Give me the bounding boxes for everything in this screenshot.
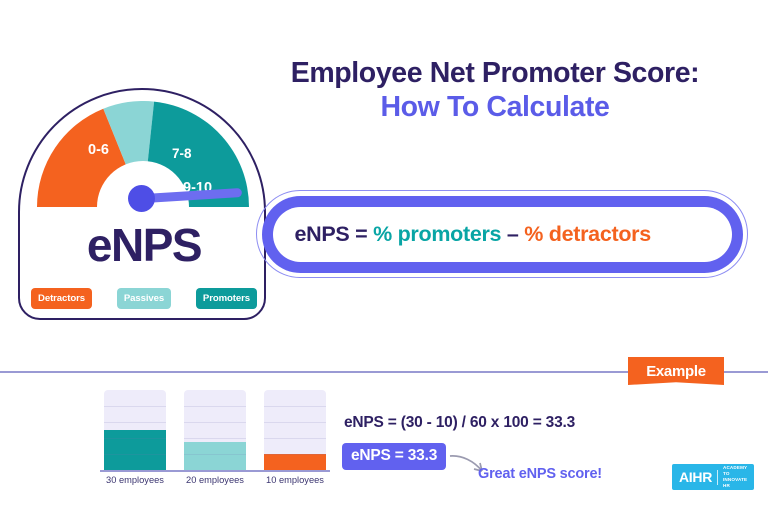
- gauge-center-label: eNPS: [20, 218, 268, 272]
- logo-tagline-line-2: INNOVATE HR: [723, 477, 747, 488]
- bar-chart-labels: 30 employees 20 employees 10 employees: [95, 475, 335, 485]
- example-comment: Great eNPS score!: [478, 466, 602, 482]
- formula-part-minus: –: [507, 222, 519, 246]
- bar-column-passives: [184, 390, 246, 470]
- bar-gridlines: [104, 390, 166, 470]
- bar-track: [264, 390, 326, 470]
- bar-chart-bars: [104, 390, 326, 470]
- formula-callout: eNPS = % promoters – % detractors: [256, 190, 748, 278]
- page-title-line-2: How To Calculate: [250, 91, 740, 125]
- bar-track: [184, 390, 246, 470]
- formula-callout-inner: eNPS = % promoters – % detractors: [273, 207, 732, 262]
- page-title-line-1: Employee Net Promoter Score:: [250, 57, 740, 91]
- logo-tagline: ACADEMY TO INNOVATE HR: [723, 465, 754, 490]
- enps-gauge-card: 0-6 7-8 9-10 eNPS Detractors Passives Pr…: [18, 88, 266, 320]
- bar-label-passives: 20 employees: [175, 475, 255, 485]
- bar-gridlines: [264, 390, 326, 470]
- logo-divider: [717, 470, 718, 485]
- bar-label-promoters: 30 employees: [95, 475, 175, 485]
- page-title: Employee Net Promoter Score: How To Calc…: [250, 57, 740, 124]
- formula-callout-border: eNPS = % promoters – % detractors: [262, 196, 743, 273]
- bar-chart-baseline: [100, 470, 330, 472]
- formula-part-enps: eNPS =: [295, 222, 368, 246]
- example-calculation-text: eNPS = (30 - 10) / 60 x 100 = 33.3: [344, 414, 575, 432]
- example-result-badge: eNPS = 33.3: [342, 443, 446, 470]
- formula-part-detractors: % detractors: [524, 222, 651, 246]
- employee-bar-chart: 30 employees 20 employees 10 employees: [104, 390, 326, 494]
- logo-wordmark: AIHR: [679, 469, 712, 485]
- bar-column-detractors: [264, 390, 326, 470]
- bar-label-detractors: 10 employees: [255, 475, 335, 485]
- legend-pill-passives: Passives: [117, 288, 171, 309]
- bar-gridlines: [184, 390, 246, 470]
- formula-text: eNPS = % promoters – % detractors: [273, 222, 651, 247]
- gauge-segment-label-promoters: 9-10: [183, 180, 212, 196]
- logo-tagline-line-1: ACADEMY TO: [723, 465, 747, 476]
- legend-pill-detractors: Detractors: [31, 288, 92, 309]
- formula-part-promoters: % promoters: [373, 222, 501, 246]
- legend-pill-promoters: Promoters: [196, 288, 257, 309]
- gauge-dial-icon: [37, 101, 249, 217]
- bar-track: [104, 390, 166, 470]
- gauge-segment-label-detractors: 0-6: [88, 142, 109, 158]
- example-badge: Example: [628, 357, 724, 385]
- bar-column-promoters: [104, 390, 166, 470]
- gauge-segment-label-passives: 7-8: [172, 146, 192, 161]
- gauge-legend: Detractors Passives Promoters: [31, 288, 257, 309]
- aihr-logo: AIHR ACADEMY TO INNOVATE HR: [672, 464, 754, 490]
